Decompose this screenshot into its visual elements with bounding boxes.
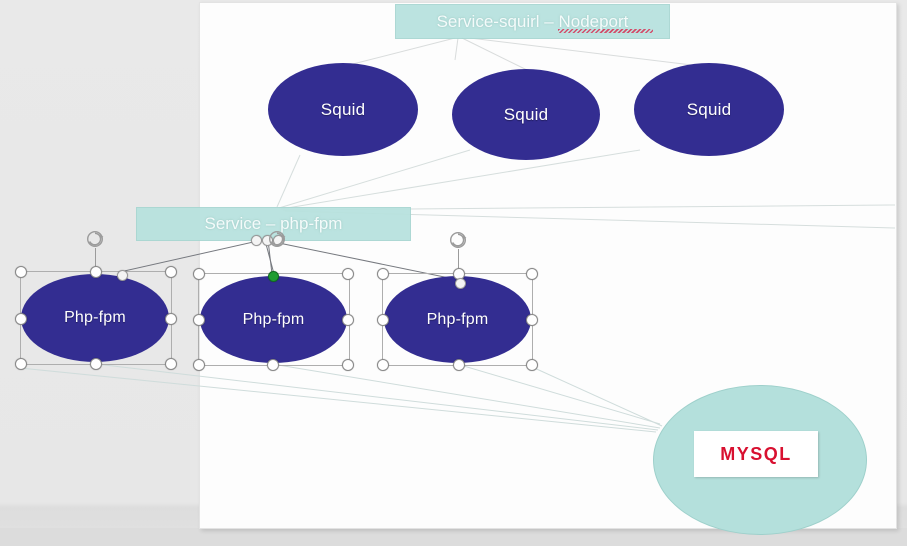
resize-handle-icon-ne-2[interactable]	[342, 268, 354, 280]
spellcheck-squiggle	[558, 29, 653, 33]
connection-point-icon-phpfpm-2[interactable]	[268, 271, 279, 282]
resize-handle-icon-ne-3[interactable]	[526, 268, 538, 280]
phpfpm-node-3-label: Php-fpm	[427, 311, 489, 329]
squid-node-1[interactable]: Squid	[268, 63, 418, 156]
squid-node-2[interactable]: Squid	[452, 69, 600, 160]
resize-handle-icon-w-3[interactable]	[377, 314, 389, 326]
resize-handle-icon-sw-2[interactable]	[193, 359, 205, 371]
resize-handle-icon-n-1[interactable]	[90, 266, 102, 278]
resize-handle-icon-e-2[interactable]	[342, 314, 354, 326]
service-squid-nodeport-banner[interactable]: Service-squirl – Nodeport	[395, 4, 670, 39]
mysql-label-box[interactable]: MYSQL	[694, 431, 818, 477]
connection-point-icon-phpfpm-3[interactable]	[455, 278, 466, 289]
squid-node-3[interactable]: Squid	[634, 63, 784, 156]
resize-handle-icon-e-1[interactable]	[165, 313, 177, 325]
slide-editor-screen: Service-squirl – Nodeport Squid Squid Sq…	[0, 0, 907, 546]
mysql-label: MYSQL	[720, 444, 792, 465]
resize-handle-icon-w-2[interactable]	[193, 314, 205, 326]
phpfpm-node-2[interactable]: Php-fpm	[200, 276, 347, 363]
rotate-icon-phpfpm-1[interactable]	[86, 230, 104, 248]
resize-handle-icon-nw-3[interactable]	[377, 268, 389, 280]
resize-handle-icon-s-2[interactable]	[267, 359, 279, 371]
squid-node-1-label: Squid	[321, 100, 365, 120]
resize-handle-icon-se-3[interactable]	[526, 359, 538, 371]
resize-handle-icon-nw-2[interactable]	[193, 268, 205, 280]
phpfpm-node-1-label: Php-fpm	[64, 309, 126, 327]
connection-point-icon-a[interactable]	[251, 235, 262, 246]
phpfpm-node-2-label: Php-fpm	[243, 311, 305, 329]
phpfpm-node-1[interactable]: Php-fpm	[21, 274, 169, 362]
squid-node-3-label: Squid	[687, 100, 731, 120]
rotate-icon-phpfpm-3[interactable]	[449, 231, 467, 249]
resize-handle-icon-nw-1[interactable]	[15, 266, 27, 278]
connection-point-icon-phpfpm-1[interactable]	[117, 270, 128, 281]
resize-handle-icon-s-3[interactable]	[453, 359, 465, 371]
resize-handle-icon-sw-3[interactable]	[377, 359, 389, 371]
squid-node-2-label: Squid	[504, 105, 548, 125]
resize-handle-icon-se-1[interactable]	[165, 358, 177, 370]
resize-handle-icon-sw-1[interactable]	[15, 358, 27, 370]
resize-handle-icon-se-2[interactable]	[342, 359, 354, 371]
resize-handle-icon-ne-1[interactable]	[165, 266, 177, 278]
phpfpm-node-3[interactable]: Php-fpm	[384, 276, 531, 363]
rotate-icon-banner[interactable]	[268, 230, 286, 248]
resize-handle-icon-w-1[interactable]	[15, 313, 27, 325]
resize-handle-icon-e-3[interactable]	[526, 314, 538, 326]
resize-handle-icon-s-1[interactable]	[90, 358, 102, 370]
